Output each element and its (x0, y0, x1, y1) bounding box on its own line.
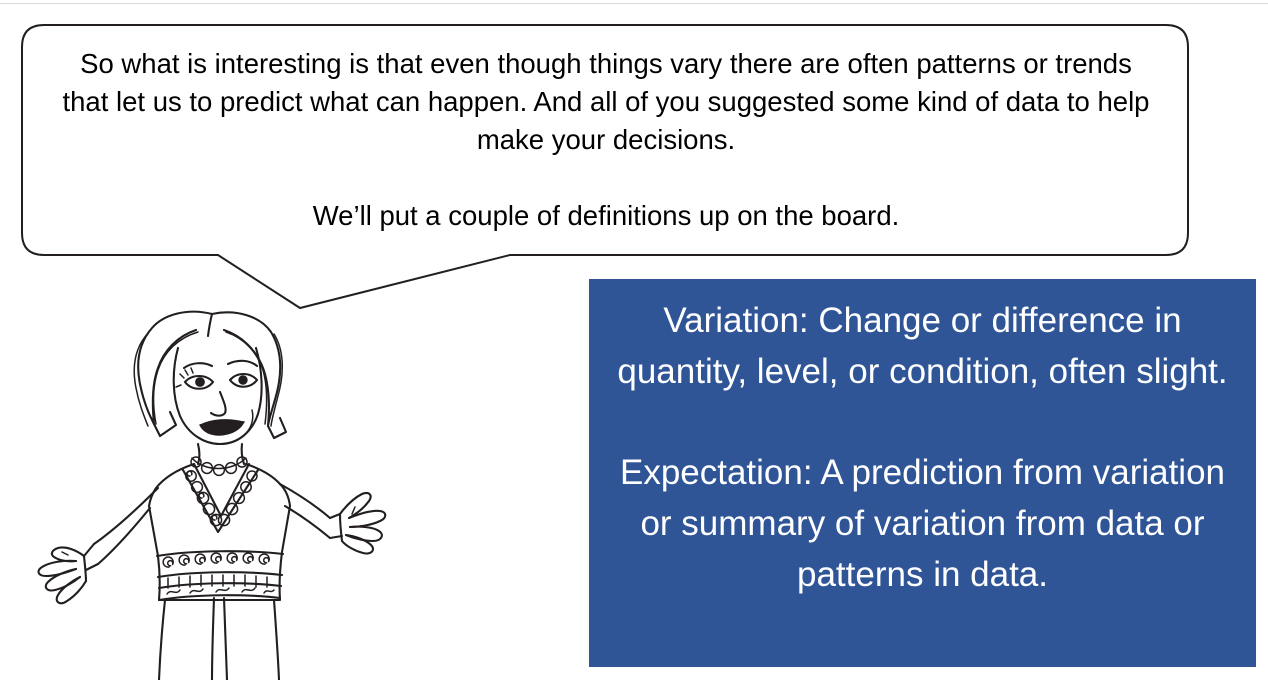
cheek-line (247, 410, 253, 432)
eyebrows (184, 361, 257, 368)
neck-left (198, 444, 200, 464)
tunic-body (149, 464, 290, 600)
v-neck-trim (183, 464, 258, 532)
tunic-hem-band (157, 551, 283, 600)
hair-group (134, 312, 286, 438)
teacher-illustration (28, 292, 400, 680)
nose (211, 392, 226, 416)
legs (159, 598, 279, 680)
definition-expectation: Expectation: A prediction from variation… (611, 447, 1234, 600)
top-divider-rule (0, 3, 1268, 4)
definition-variation: Variation: Change or difference in quant… (611, 295, 1234, 397)
speech-bubble: So what is interesting is that even thou… (18, 18, 1194, 316)
definitions-panel: Variation: Change or difference in quant… (589, 279, 1256, 667)
speech-paragraph-1: So what is interesting is that even thou… (60, 45, 1152, 159)
right-arm (280, 484, 385, 553)
teacher-drawing-svg (28, 292, 400, 680)
left-arm (39, 488, 158, 603)
speech-paragraph-2: We’ll put a couple of definitions up on … (60, 197, 1152, 235)
speech-bubble-text: So what is interesting is that even thou… (60, 45, 1152, 235)
mouth (200, 420, 244, 436)
slide-canvas: So what is interesting is that even thou… (0, 0, 1268, 680)
eyes (176, 368, 257, 389)
